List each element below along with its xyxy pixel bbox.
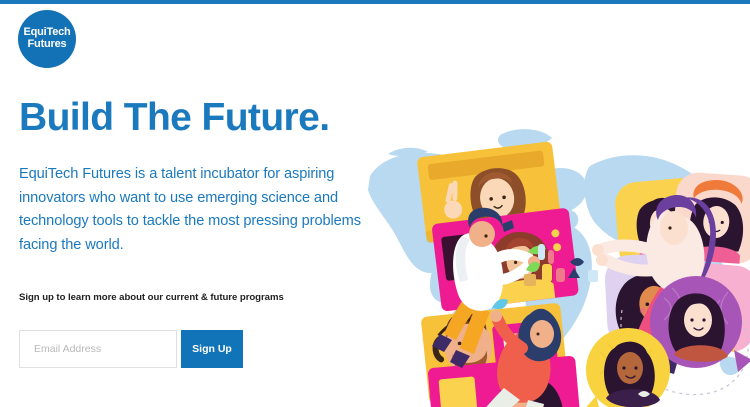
- signup-prompt-label: Sign up to learn more about our current …: [19, 292, 284, 303]
- logo-line-2: Futures: [28, 39, 67, 51]
- hero-description: EquiTech Futures is a talent incubator f…: [19, 163, 364, 258]
- global-collaboration-illustration: [352, 58, 750, 407]
- brand-logo[interactable]: EquiTech Futures: [18, 10, 76, 68]
- page-title: Build The Future.: [19, 98, 364, 137]
- signup-form: Sign Up: [19, 330, 243, 368]
- signup-button[interactable]: Sign Up: [181, 330, 243, 368]
- landing-page: EquiTech Futures Build The Future. EquiT…: [0, 0, 750, 407]
- speech-bubble-avatar-yellow: [582, 328, 670, 407]
- email-field[interactable]: [19, 330, 177, 368]
- hero-text-column: Build The Future. EquiTech Futures is a …: [19, 98, 364, 258]
- top-accent-bar: [0, 0, 750, 4]
